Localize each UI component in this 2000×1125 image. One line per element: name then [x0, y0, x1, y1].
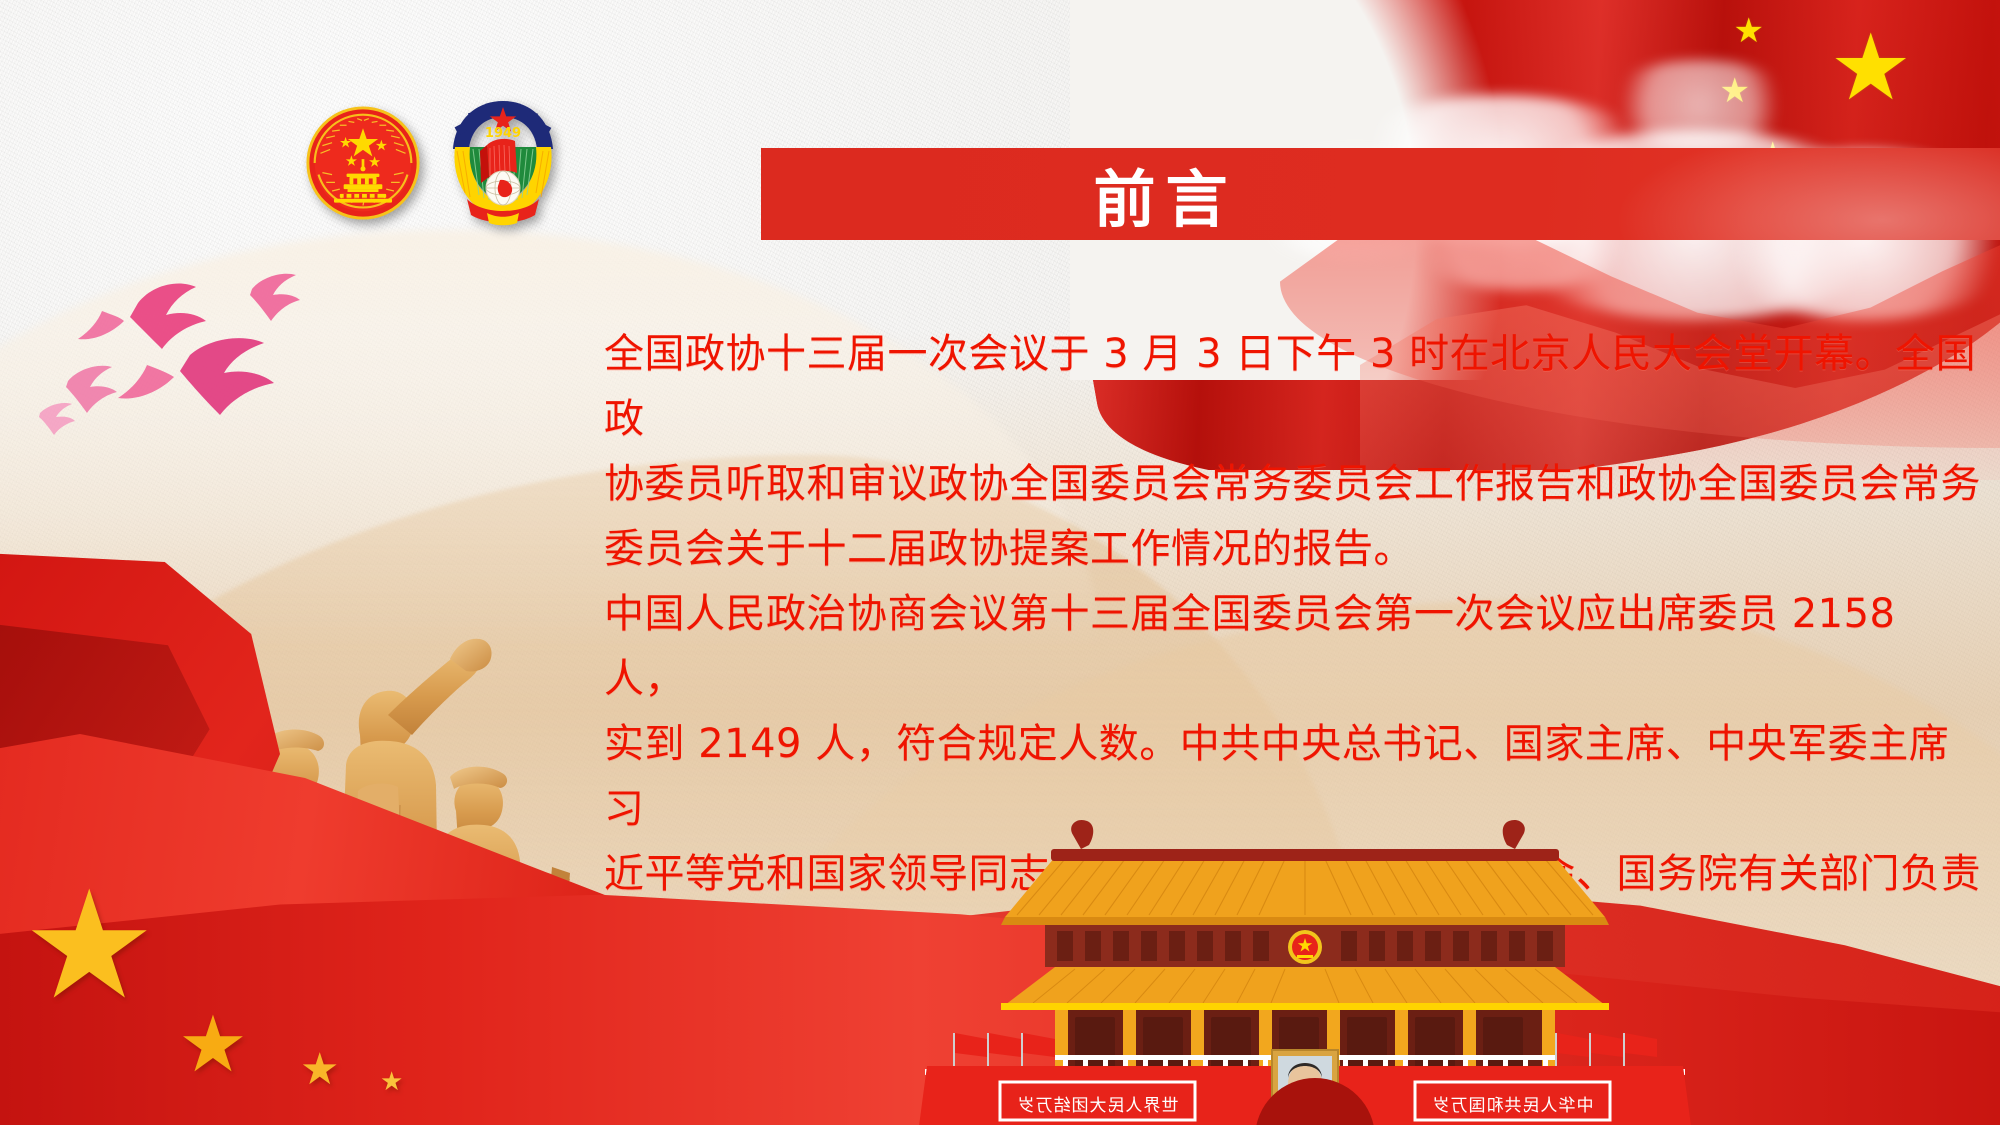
cppcc-emblem-year: 1949	[485, 126, 521, 141]
tiananmen-slogan-left: 世界人民大团结万岁	[1004, 1086, 1191, 1120]
paragraph-1-line-3: 委员会关于十二届政协提案工作情况的报告。	[604, 517, 1984, 582]
tiananmen-slogan-right: 中华人民共和国万岁	[1419, 1086, 1606, 1120]
page-title: 前言	[761, 148, 2000, 240]
paragraph-1-line-2: 协委员听取和审议政协全国委员会常务委员会工作报告和政协全国委员会常务	[604, 452, 1984, 517]
gold-star-3: ★	[300, 1048, 339, 1092]
gold-star-2: ★	[178, 1005, 248, 1083]
peace-doves-group	[20, 255, 320, 445]
gold-star-1: ★	[22, 870, 156, 1020]
gold-star-4: ★	[380, 1068, 403, 1094]
paragraph-1-line-1: 全国政协十三届一次会议于 3 月 3 日下午 3 时在北京人民大会堂开幕。全国政	[604, 322, 1984, 452]
poster-canvas: ★ ★ ★ ★ ★	[0, 0, 2000, 1125]
national-emblem-of-china	[305, 105, 421, 221]
cppcc-emblem: 1949	[443, 95, 563, 227]
paragraph-2-line-1: 中国人民政治协商会议第十三届全国委员会第一次会议应出席委员 2158 人，	[604, 582, 1984, 712]
tiananmen-gate	[905, 805, 1705, 1075]
flag-star-large: ★	[1830, 22, 1912, 114]
flag-star-small-1: ★	[1734, 14, 1764, 48]
